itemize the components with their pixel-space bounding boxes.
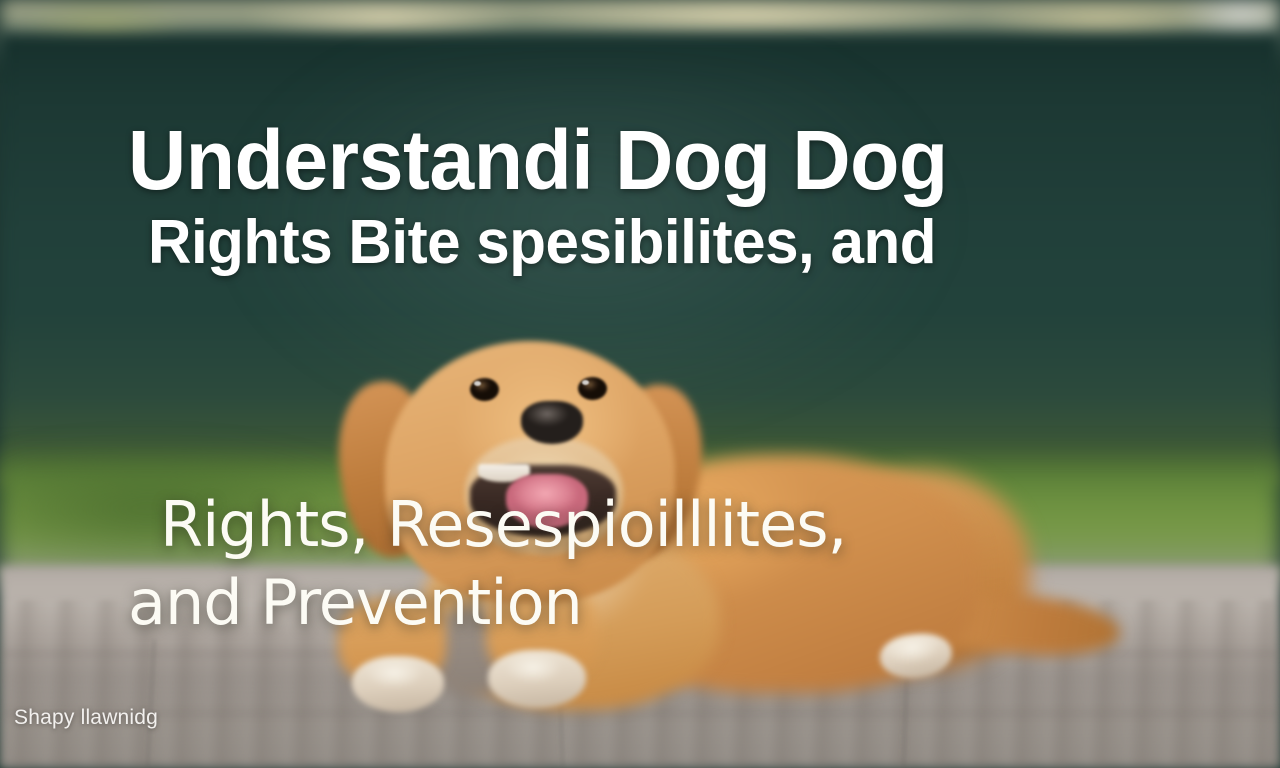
headline-bottom-block: Rights, Resespioilllites, and Prevention bbox=[160, 486, 1170, 642]
headline-bottom-line-2: and Prevention bbox=[128, 564, 1170, 642]
banner-image: Understandi Dog Dog Rights Bite spesibil… bbox=[0, 0, 1280, 768]
text-overlay: Understandi Dog Dog Rights Bite spesibil… bbox=[0, 0, 1280, 768]
headline-bottom-line-1: Rights, Resespioilllites, bbox=[160, 486, 1170, 564]
headline-top-block: Understandi Dog Dog Rights Bite spesibil… bbox=[128, 114, 1158, 280]
watermark-label: Shapy llawnidg bbox=[14, 706, 158, 730]
headline-top-line-2: Rights Bite spesibilites, and bbox=[148, 206, 1128, 280]
headline-top-line-1: Understandi Dog Dog bbox=[128, 114, 1117, 206]
